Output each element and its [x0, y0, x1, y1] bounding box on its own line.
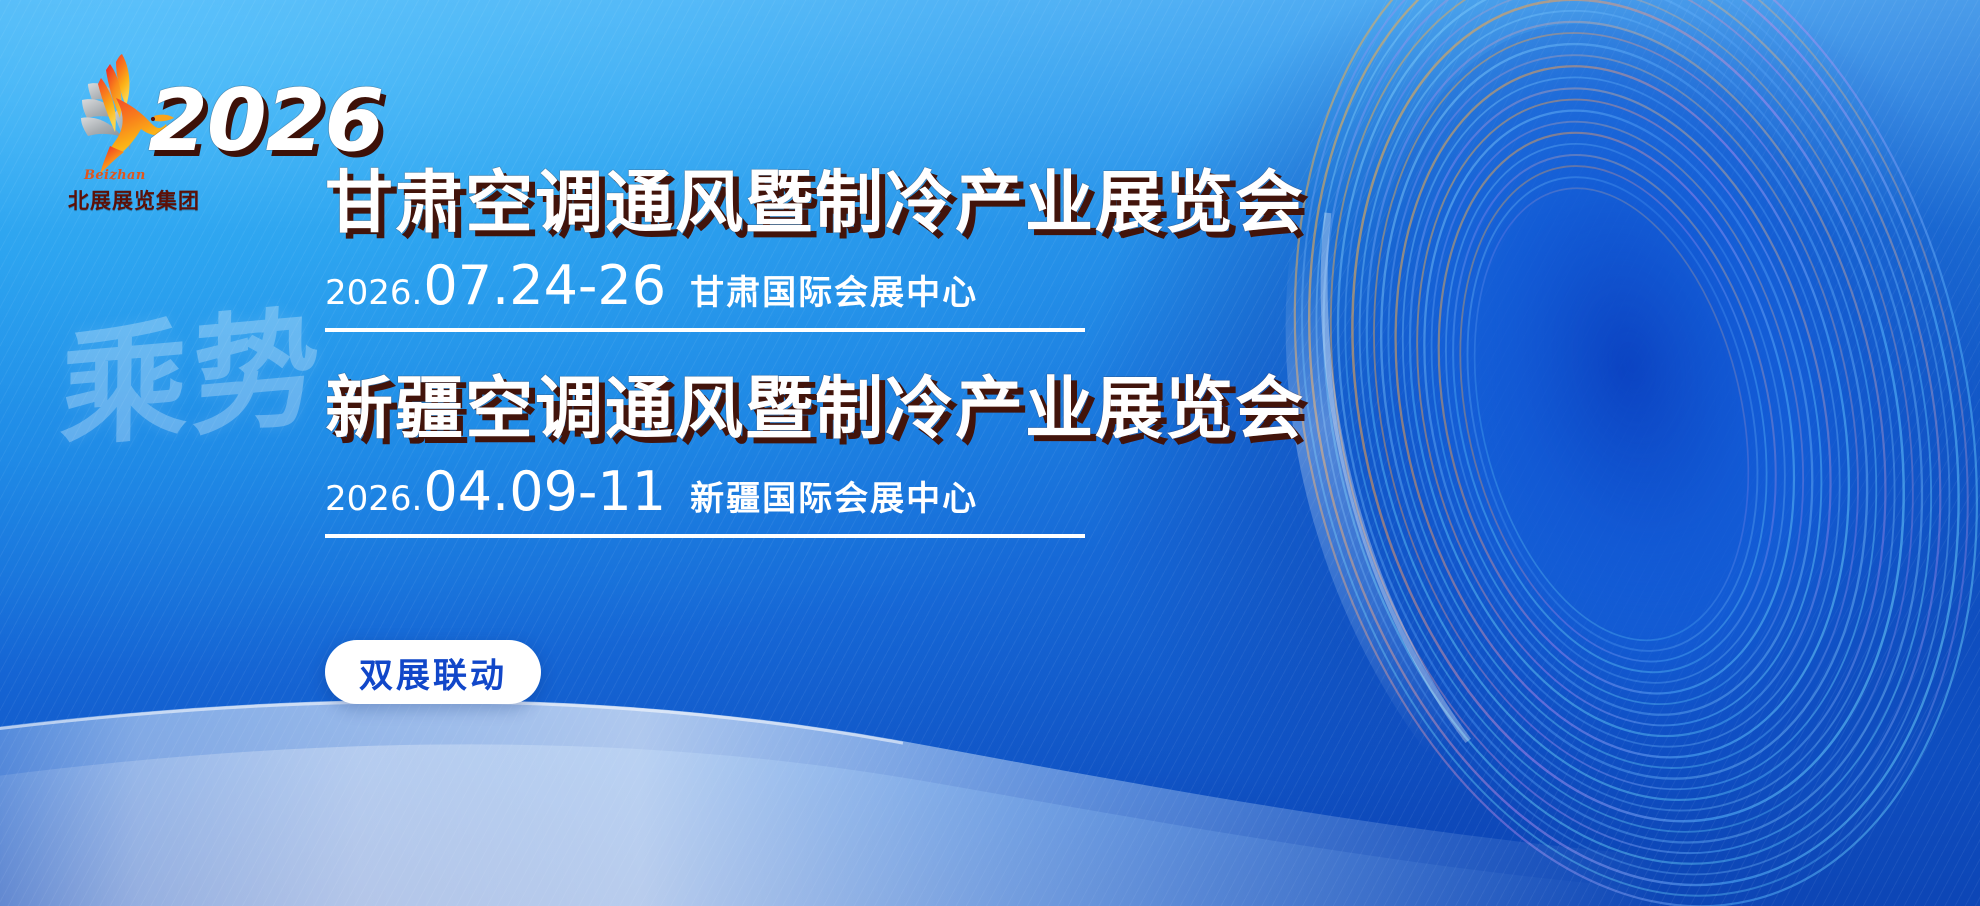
show-title: 甘肃空调通风暨制冷产业展览会	[325, 168, 1525, 240]
logo-latin-name: Beizhan	[84, 168, 146, 183]
year-badge: 2026	[148, 78, 383, 164]
watermark-text: 乘势	[59, 300, 330, 459]
light-sweep-graphic	[0, 507, 1663, 906]
show-dates: 04.09-11	[423, 460, 666, 523]
dual-show-pill[interactable]: 双展联动	[325, 640, 541, 704]
show-venue: 新疆国际会展中心	[690, 471, 978, 520]
dual-show-pill-label: 双展联动	[359, 648, 507, 697]
show-year: 2026.	[325, 479, 422, 519]
show-listing: 甘肃空调通风暨制冷产业展览会 2026. 07.24-26 甘肃国际会展中心 新…	[325, 168, 1525, 538]
show-title: 新疆空调通风暨制冷产业展览会	[325, 374, 1525, 446]
show-year: 2026.	[325, 273, 422, 313]
show-venue: 甘肃国际会展中心	[690, 265, 978, 314]
show-entry-xinjiang: 新疆空调通风暨制冷产业展览会 2026. 04.09-11 新疆国际会展中心	[325, 374, 1525, 538]
show-meta: 2026. 04.09-11 新疆国际会展中心	[325, 460, 1085, 538]
show-dates: 07.24-26	[423, 254, 666, 317]
exhibition-banner: 乘势	[0, 0, 1980, 906]
logo-chinese-name: 北展展览集团	[68, 185, 200, 215]
background-bottom-depth	[0, 580, 1980, 906]
calligraphy-watermark: 乘势	[60, 312, 330, 512]
show-meta: 2026. 07.24-26 甘肃国际会展中心	[325, 254, 1085, 332]
listing-spacer	[325, 332, 1525, 374]
show-entry-gansu: 甘肃空调通风暨制冷产业展览会 2026. 07.24-26 甘肃国际会展中心	[325, 168, 1525, 332]
